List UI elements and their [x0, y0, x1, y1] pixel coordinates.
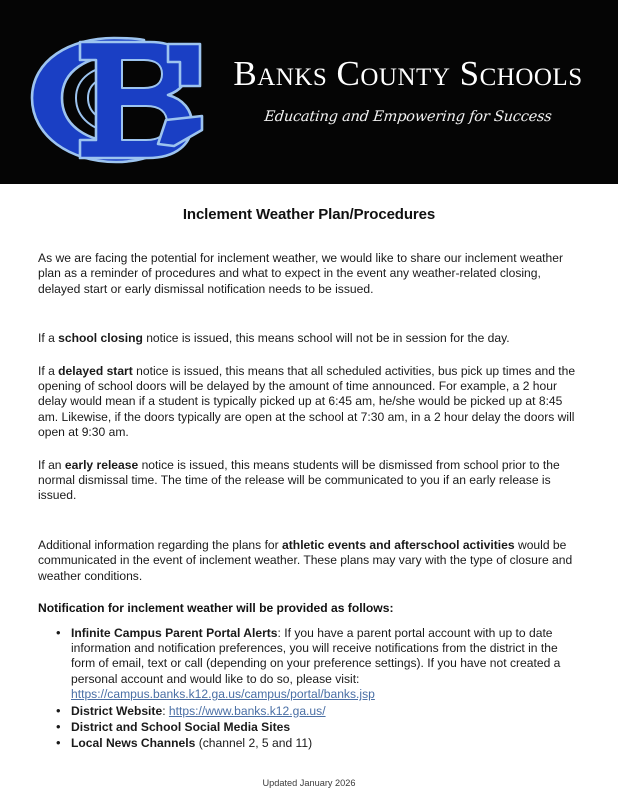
list-item-local-news: Local News Channels (channel 2, 5 and 11… — [38, 736, 580, 751]
notification-heading: Notification for inclement weather will … — [38, 601, 580, 616]
district-website-link[interactable]: https://www.banks.k12.ga.us/ — [169, 704, 326, 718]
additional-lead: Additional information regarding the pla… — [38, 538, 282, 552]
list-item-infinite-campus: Infinite Campus Parent Portal Alerts: If… — [38, 626, 580, 703]
additional-term: athletic events and afterschool activiti… — [282, 538, 515, 552]
brand-title: Banks County Schools — [208, 56, 608, 93]
school-closing-paragraph: If a school closing notice is issued, th… — [38, 331, 580, 346]
early-release-lead: If an — [38, 458, 65, 472]
header-banner: Banks County Schools Educating and Empow… — [0, 0, 618, 184]
bullet-term: District and School Social Media Sites — [71, 720, 290, 734]
closing-term: school closing — [58, 331, 143, 345]
banks-county-schools-logo-icon — [18, 22, 204, 174]
bullet-term: Infinite Campus Parent Portal Alerts — [71, 626, 278, 640]
delayed-start-paragraph: If a delayed start notice is issued, thi… — [38, 364, 580, 441]
bullet-term: District Website — [71, 704, 162, 718]
intro-text: As we are facing the potential for incle… — [38, 251, 563, 296]
updated-date: Updated January 2026 — [38, 778, 580, 788]
early-release-term: early release — [65, 458, 138, 472]
list-item-district-website: District Website: https://www.banks.k12.… — [38, 704, 580, 719]
delayed-term: delayed start — [58, 364, 133, 378]
early-release-paragraph: If an early release notice is issued, th… — [38, 458, 580, 504]
additional-info-paragraph: Additional information regarding the pla… — [38, 538, 580, 584]
document-body: Inclement Weather Plan/Procedures As we … — [0, 206, 618, 788]
notification-methods-list: Infinite Campus Parent Portal Alerts: If… — [38, 626, 580, 752]
bullet-text: (channel 2, 5 and 11) — [199, 736, 312, 750]
delayed-lead: If a — [38, 364, 58, 378]
page-title: Inclement Weather Plan/Procedures — [38, 206, 580, 223]
intro-paragraph: As we are facing the potential for incle… — [38, 251, 580, 297]
closing-lead: If a — [38, 331, 58, 345]
brand-tagline: Educating and Empowering for Success — [207, 109, 609, 125]
parent-portal-link[interactable]: https://campus.banks.k12.ga.us/campus/po… — [71, 687, 375, 701]
bullet-term: Local News Channels — [71, 736, 195, 750]
brand-block: Banks County Schools Educating and Empow… — [208, 56, 608, 125]
list-item-social-media: District and School Social Media Sites — [38, 720, 580, 735]
closing-rest: notice is issued, this means school will… — [143, 331, 510, 345]
bullet-separator: : — [162, 704, 169, 718]
